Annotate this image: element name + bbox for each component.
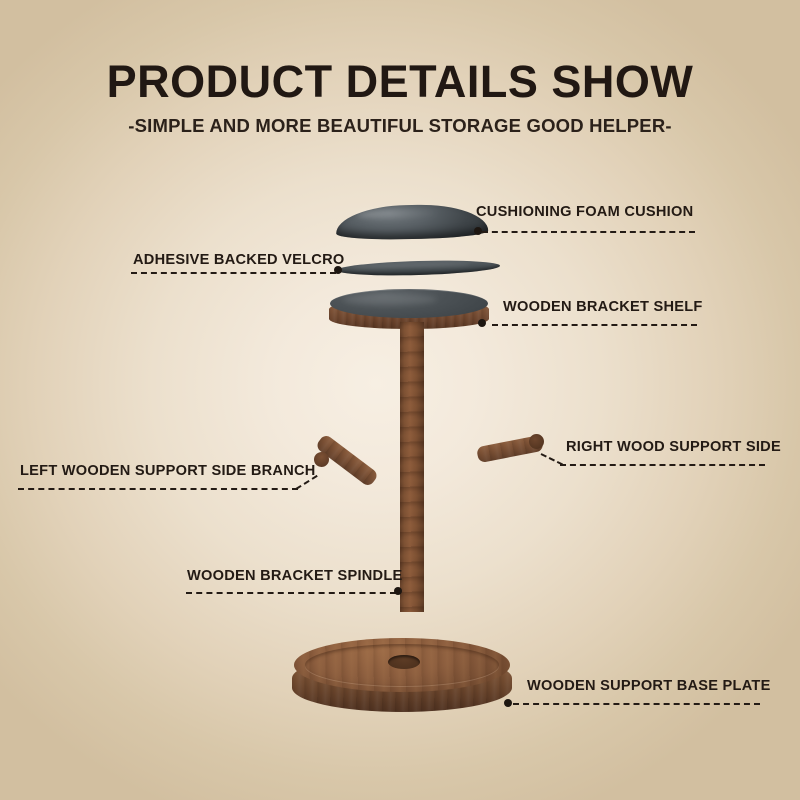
velcro-strip-part (337, 259, 500, 278)
callout-label-adhesive-backed-velcro: ADHESIVE BACKED VELCRO (133, 253, 344, 268)
callout-wooden-support-base-plate: WOODEN SUPPORT BASE PLATE (527, 679, 771, 694)
page-subtitle: -SIMPLE AND MORE BEAUTIFUL STORAGE GOOD … (0, 115, 800, 137)
callout-label-cushioning-foam-cushion: CUSHIONING FOAM CUSHION (476, 205, 693, 220)
leader-line-adhesive-backed-velcro (131, 272, 336, 274)
callout-label-right-wood-support-side: RIGHT WOOD SUPPORT SIDE (566, 440, 781, 455)
shelf-top-surface (330, 289, 488, 318)
bracket-spindle-part (400, 322, 424, 612)
callout-right-wood-support-side: RIGHT WOOD SUPPORT SIDE (566, 440, 781, 455)
callout-left-wooden-support-side-branch: LEFT WOODEN SUPPORT SIDE BRANCH (20, 464, 316, 479)
callout-wooden-bracket-spindle: WOODEN BRACKET SPINDLE (187, 569, 403, 584)
callout-cushioning-foam-cushion: CUSHIONING FOAM CUSHION (476, 205, 693, 220)
leader-line-right-wood-support-side (560, 464, 765, 466)
leader-dot-wooden-bracket-spindle (394, 587, 402, 595)
callout-label-left-wooden-support-side-branch: LEFT WOODEN SUPPORT SIDE BRANCH (20, 464, 316, 479)
leader-line-wooden-support-base-plate (513, 703, 760, 705)
leader-dot-wooden-bracket-shelf (478, 319, 486, 327)
leader-line-wooden-bracket-spindle (186, 592, 396, 594)
leader-tick-right-wood-support-side (541, 453, 563, 465)
right-support-branch-end-cap (529, 434, 544, 449)
leader-line-wooden-bracket-shelf (492, 324, 697, 326)
leader-dot-wooden-support-base-plate (504, 699, 512, 707)
callout-label-wooden-support-base-plate: WOODEN SUPPORT BASE PLATE (527, 679, 771, 694)
callout-label-wooden-bracket-spindle: WOODEN BRACKET SPINDLE (187, 569, 403, 584)
leader-dot-cushioning-foam-cushion (474, 227, 482, 235)
leader-line-cushioning-foam-cushion (482, 231, 695, 233)
callout-adhesive-backed-velcro: ADHESIVE BACKED VELCRO (133, 253, 344, 268)
product-details-diagram: PRODUCT DETAILS SHOW -SIMPLE AND MORE BE… (0, 0, 800, 800)
callout-label-wooden-bracket-shelf: WOODEN BRACKET SHELF (503, 300, 703, 315)
page-title: PRODUCT DETAILS SHOW (0, 58, 800, 105)
leader-line-left-wooden-support-side-branch (18, 488, 298, 490)
header: PRODUCT DETAILS SHOW -SIMPLE AND MORE BE… (0, 58, 800, 137)
support-base-plate-part (292, 638, 512, 720)
foam-cushion-part (336, 203, 489, 240)
leader-dot-adhesive-backed-velcro (334, 266, 342, 274)
callout-wooden-bracket-shelf: WOODEN BRACKET SHELF (503, 300, 703, 315)
base-plate-center-hole (388, 655, 420, 669)
